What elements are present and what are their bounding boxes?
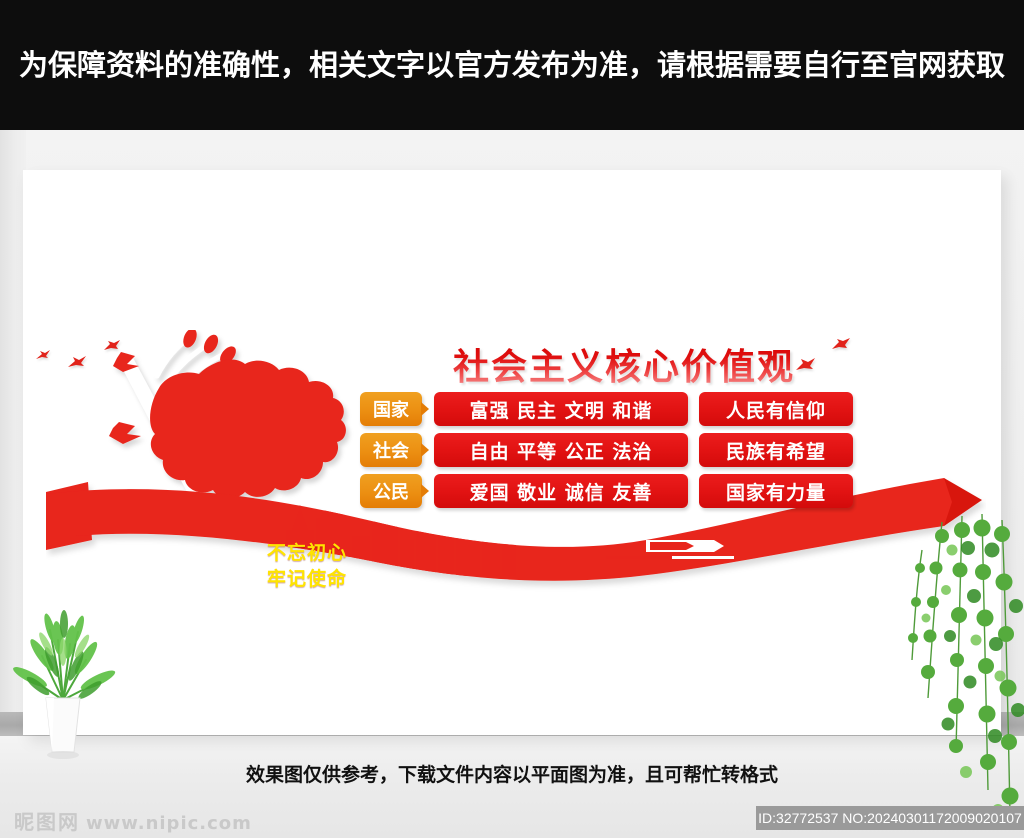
category-chip-gongmin[interactable]: 公民 [360, 474, 422, 508]
value-chip-gongmin[interactable]: 爱国 敬业 诚信 友善 [434, 474, 688, 508]
watermark-url: www.nipic.com [86, 813, 252, 834]
value-chip-shehui[interactable]: 自由 平等 公正 法治 [434, 433, 688, 467]
footer-caption: 效果图仅供参考，下载文件内容以平面图为准，且可帮忙转格式 [0, 760, 1024, 787]
value-row: 国家 富强 民主 文明 和谐 人民有信仰 [360, 392, 880, 426]
site-watermark: 昵图网www.nipic.com [14, 806, 252, 835]
swallow-bird-icon [35, 350, 51, 364]
flag-motto: 不忘初心 牢记使命 [237, 540, 377, 592]
room-scene: 不忘初心 牢记使命 [0, 130, 1024, 838]
value-row: 社会 自由 平等 公正 法治 民族有希望 [360, 433, 880, 467]
value-row: 公民 爱国 敬业 诚信 友善 国家有力量 [360, 474, 880, 508]
flag-motto-line-2: 牢记使命 [237, 566, 377, 592]
swallow-bird-icon [831, 338, 851, 354]
potted-plant-left [8, 600, 118, 765]
culture-wall-board: 不忘初心 牢记使命 [23, 170, 1001, 735]
slogan-chip-guojia[interactable]: 国家有力量 [699, 474, 853, 508]
disclaimer-banner: 为保障资料的准确性，相关文字以官方发布为准，请根据需要自行至官网获取 [0, 0, 1024, 130]
slogan-chip-renmin[interactable]: 人民有信仰 [699, 392, 853, 426]
swallow-bird-icon [67, 356, 87, 373]
watermark-brand: 昵图网 [14, 810, 80, 834]
category-chip-shehui[interactable]: 社会 [360, 433, 422, 467]
category-chip-guojia[interactable]: 国家 [360, 392, 422, 426]
value-chip-guojia[interactable]: 富强 民主 文明 和谐 [434, 392, 688, 426]
asset-id-strip: ID:32772537 NO:20240301172009020107 [756, 806, 1024, 830]
page-title: 社会主义核心价值观 [453, 338, 793, 390]
swallow-bird-icon [795, 358, 816, 376]
disclaimer-text: 为保障资料的准确性，相关文字以官方发布为准，请根据需要自行至官网获取 [0, 40, 1024, 90]
slogan-chip-minzu[interactable]: 民族有希望 [699, 433, 853, 467]
core-values-grid: 国家 富强 民主 文明 和谐 人民有信仰 社会 自由 平等 公正 法治 民族有希… [360, 392, 880, 514]
flag-motto-line-1: 不忘初心 [237, 540, 377, 566]
